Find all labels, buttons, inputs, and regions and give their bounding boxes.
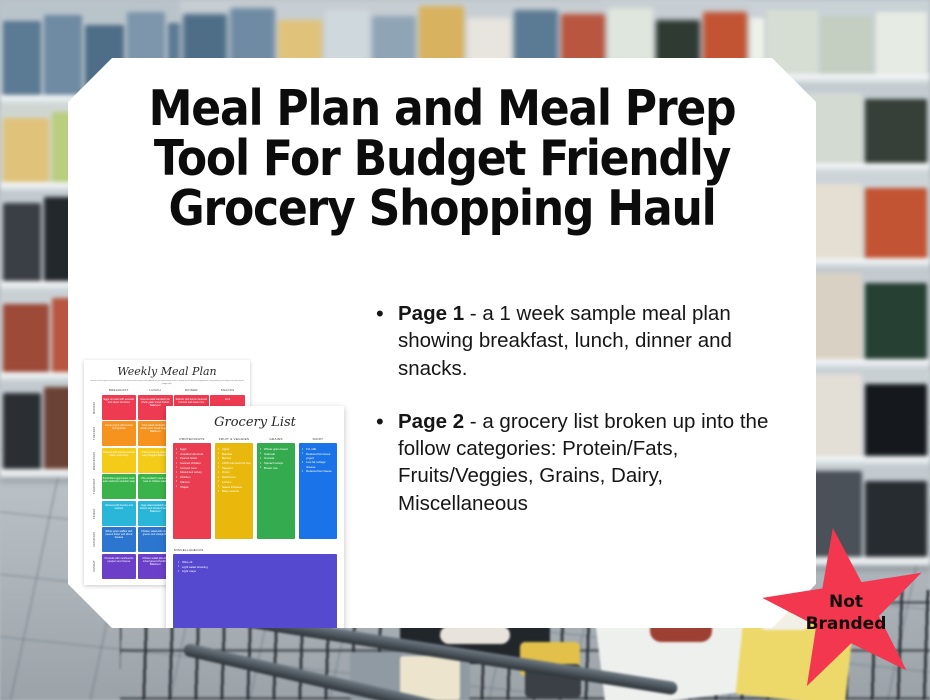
grocery-item: Whole grain bread (260, 447, 293, 451)
poster: Meal Plan and Meal Prep Tool For Budget … (0, 0, 930, 700)
grocery-item: Sweet Potatoes (218, 485, 251, 489)
meal-plan-cell: Eggs on toast with avocado and sliced to… (102, 395, 137, 420)
bullet-marker-icon: • (376, 408, 398, 517)
grocery-item: Brown rice (260, 466, 293, 470)
grocery-item: Unsalted almonds (176, 452, 209, 456)
meal-plan-cell: Omelette with mushrooms peppers and chee… (102, 554, 137, 579)
grocery-item: Light salad dressing (178, 565, 333, 569)
grocery-item: Sliced deli turkey (176, 470, 209, 474)
grocery-item: Spinach wraps (260, 461, 293, 465)
grocery-item: Chicken (176, 475, 209, 479)
preview-thumbnails: Weekly Meal Plan Use this chart to plan … (68, 288, 368, 628)
badge-line-2: Branded (806, 614, 887, 634)
bullet-item-page-1: • Page 1 - a 1 week sample meal plan sho… (376, 300, 782, 382)
grocery-item: Apple (218, 447, 251, 451)
meal-plan-cell: Oatmeal with berries and walnuts (102, 501, 137, 526)
grocery-item: Canned chicken (176, 461, 209, 465)
meal-plan-corner (89, 388, 100, 393)
title-line-3: Grocery Shopping Haul (169, 180, 716, 237)
bullet-marker-icon: • (376, 300, 398, 382)
grocery-item: Reduced fat cheese (302, 469, 335, 473)
title-line-1: Meal Plan and Meal Prep (149, 80, 736, 137)
meal-plan-header-breakfast: BREAKFAST (102, 388, 137, 393)
meal-plan-title: Weekly Meal Plan (89, 365, 245, 378)
meal-plan-header-lunch: LUNCH (138, 388, 173, 393)
card-body: Weekly Meal Plan Use this chart to plan … (68, 288, 816, 628)
grocery-item: Baby Greens (218, 489, 251, 493)
grocery-category-box: Whole grain bread Oatmeal Granola Spinac… (257, 443, 295, 539)
meal-plan-header-snacks: SNACKS (210, 388, 245, 393)
grocery-list-title: Grocery List (173, 415, 337, 430)
bullet-text: Page 2 - a grocery list broken up into t… (398, 408, 782, 517)
grocery-item: Mushroom (218, 475, 251, 479)
grocery-list-thumbnail[interactable]: Grocery List PROTEIN/FATS Eggs Unsalted … (166, 406, 344, 659)
grocery-item: Lettuce (218, 480, 251, 484)
grocery-item: Olive oil (178, 560, 333, 564)
meal-plan-day-label: SUNDAY (89, 554, 100, 579)
grocery-item: Granola (260, 456, 293, 460)
grocery-item: Onion (218, 470, 251, 474)
not-branded-badge: Not Branded (762, 527, 930, 695)
meal-plan-day-label: SATURDAY (89, 527, 100, 552)
grocery-category-grains: GRAINS Whole grain bread Oatmeal Granola… (257, 437, 295, 539)
grocery-category-header: FRUIT & VEGGIES (215, 437, 253, 441)
feature-bullets: • Page 1 - a 1 week sample meal plan sho… (368, 288, 816, 628)
meal-plan-day-label: THURSDAY (89, 474, 100, 499)
meal-plan-subtitle: Use this chart to plan out your meals fo… (89, 380, 245, 385)
grocery-item: Oatmeal (260, 452, 293, 456)
meal-plan-header-dinner: DINNER (174, 388, 209, 393)
grocery-item: 100% canned fruit cup (218, 461, 251, 465)
bullet-item-page-2: • Page 2 - a grocery list broken up into… (376, 408, 782, 517)
title-line-2: Tool For Budget Friendly (154, 130, 730, 187)
content-card: Meal Plan and Meal Prep Tool For Budget … (68, 58, 816, 628)
grocery-category-protein: PROTEIN/FATS Eggs Unsalted almonds Peanu… (173, 437, 211, 539)
meal-plan-day-label: TUESDAY (89, 421, 100, 446)
grocery-item: Salmon (176, 480, 209, 484)
grocery-item: Tilapia (176, 485, 209, 489)
meal-plan-cell: Greek yogurt with berries and granola (102, 421, 137, 446)
grocery-category-header: DAIRY (299, 437, 337, 441)
meal-plan-day-label: MONDAY (89, 395, 100, 420)
bullet-lead: Page 1 (398, 302, 464, 325)
grocery-item: Banana (218, 452, 251, 456)
bullet-text: Page 1 - a 1 week sample meal plan showi… (398, 300, 782, 382)
grocery-category-header: GRAINS (257, 437, 295, 441)
meal-plan-day-label: FRIDAY (89, 501, 100, 526)
badge-label: Not Branded (806, 592, 887, 636)
grocery-item: 1% milk (302, 447, 335, 451)
grocery-item: Canned tuna (176, 466, 209, 470)
bullet-lead: Page 2 (398, 410, 464, 433)
meal-plan-cell: Oatmeal with banana peanut butter and ho… (102, 448, 137, 473)
grocery-category-box: Eggs Unsalted almonds Peanut butter Cann… (173, 443, 211, 539)
grocery-category-dairy: DAIRY 1% milk Reduced fat Greek yogurt L… (299, 437, 337, 539)
grocery-item: Reduced fat Greek yogurt (302, 452, 335, 460)
grocery-category-header: PROTEIN/FATS (173, 437, 211, 441)
meal-plan-cell: Scrambled eggs beans onion and mushroom … (102, 474, 137, 499)
grocery-item: Peppers (218, 466, 251, 470)
grocery-item: Peanut butter (176, 456, 209, 460)
grocery-item: Low fat cottage cheese (302, 460, 335, 468)
grocery-item: Eggs (176, 447, 209, 451)
meal-plan-cell: Whole grain waffles with peanut butter a… (102, 527, 137, 552)
page-title: Meal Plan and Meal Prep Tool For Budget … (131, 84, 754, 234)
grocery-list-columns: PROTEIN/FATS Eggs Unsalted almonds Peanu… (173, 437, 337, 539)
grocery-category-box: Apple Banana Berries 100% canned fruit c… (215, 443, 253, 539)
grocery-category-fruit-veggies: FRUIT & VEGGIES Apple Banana Berries 100… (215, 437, 253, 539)
grocery-item: Light mayo (178, 569, 333, 573)
badge-line-1: Not (829, 592, 863, 612)
grocery-misc-header: MISCELLANEOUS (174, 548, 337, 552)
grocery-item: Berries (218, 456, 251, 460)
grocery-category-box: 1% milk Reduced fat Greek yogurt Low fat… (299, 443, 337, 539)
meal-plan-day-label: WEDNESDAY (89, 448, 100, 473)
